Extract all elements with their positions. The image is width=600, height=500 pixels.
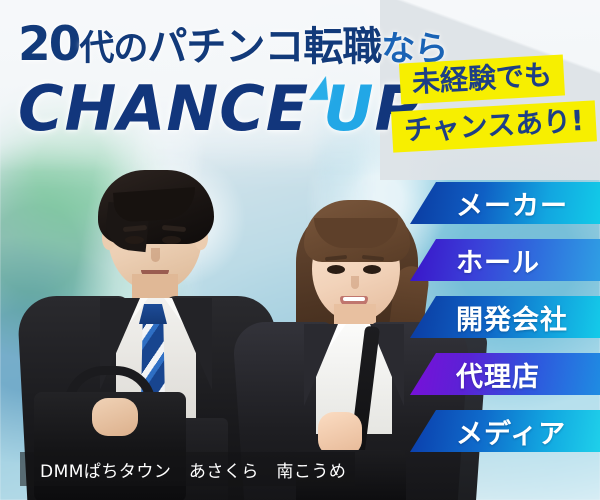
category-label-development-company: 開発会社 bbox=[456, 298, 568, 337]
male-hand bbox=[92, 398, 138, 436]
headline-number: 20 bbox=[18, 17, 79, 72]
promo-banner[interactable]: 20代のパチンコ転職なら CHANCEUP 未経験でも チャンスあり! メーカー… bbox=[0, 0, 600, 500]
category-label-media: メディア bbox=[456, 412, 566, 451]
category-list: メーカー ホール 開発会社 代理店 メディア bbox=[410, 182, 600, 452]
category-item-agency[interactable]: 代理店 bbox=[410, 353, 600, 395]
category-item-maker[interactable]: メーカー bbox=[410, 182, 600, 224]
category-item-hall[interactable]: ホール bbox=[410, 239, 600, 281]
category-label-hall: ホール bbox=[456, 241, 540, 280]
photo-credit-caption: DMMぱちタウン あさくら 南こうめ bbox=[20, 452, 355, 486]
category-item-development-company[interactable]: 開発会社 bbox=[410, 296, 600, 338]
photo-credit-text: DMMぱちタウン あさくら 南こうめ bbox=[40, 457, 346, 482]
logo-letter-u: U bbox=[323, 72, 374, 145]
category-item-media[interactable]: メディア bbox=[410, 410, 600, 452]
logo-word-chance: CHANCE bbox=[18, 72, 309, 145]
headline: 20代のパチンコ転職なら bbox=[18, 14, 447, 72]
category-label-maker: メーカー bbox=[456, 184, 568, 223]
chance-up-logo: CHANCEUP bbox=[18, 72, 421, 145]
up-arrow-icon bbox=[309, 76, 332, 100]
headline-unit: 代の bbox=[79, 29, 147, 69]
category-label-agency: 代理店 bbox=[456, 355, 540, 394]
headline-keyword: パチンコ転職 bbox=[147, 24, 381, 70]
